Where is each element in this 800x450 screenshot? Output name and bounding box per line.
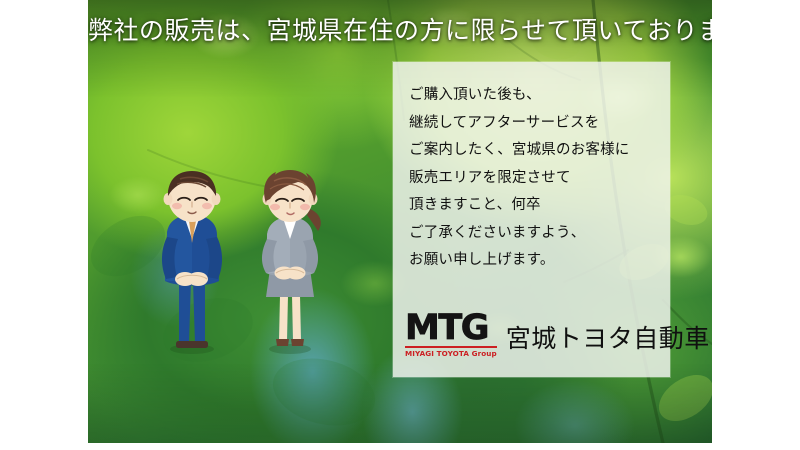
- notice-line: お願い申し上げます。: [409, 247, 660, 275]
- slide-canvas: 弊社の販売は、宮城県在住の方に限らせて頂いております。 ご購入頂いた後も、 継続…: [0, 0, 800, 450]
- notice-body: ご購入頂いた後も、 継続してアフターサービスを ご案内したく、宮城県のお客様に …: [409, 82, 660, 275]
- notice-line: 販売エリアを限定させて: [409, 165, 660, 193]
- mtg-logo-lockup: MTG MIYAGI TOYOTA Group 宮城トヨタ自動車: [405, 311, 710, 360]
- bowing-businesswoman-illustration: [244, 169, 336, 355]
- bowing-businessman-illustration: [146, 169, 238, 355]
- notice-line: ご了承くださいますよう、: [409, 220, 660, 248]
- notice-line: ご案内したく、宮城県のお客様に: [409, 137, 660, 165]
- headline-text: 弊社の販売は、宮城県在住の方に限らせて頂いております。: [88, 14, 712, 48]
- notice-line: 頂きますこと、何卒: [409, 192, 660, 220]
- foliage-background-photo: 弊社の販売は、宮城県在住の方に限らせて頂いております。 ご購入頂いた後も、 継続…: [88, 0, 712, 443]
- mtg-logo-letters: MTG: [405, 311, 488, 345]
- mtg-logo-subtitle: MIYAGI TOYOTA Group: [405, 349, 497, 359]
- mtg-logo-mark: MTG MIYAGI TOYOTA Group: [405, 311, 497, 360]
- notice-line: ご購入頂いた後も、: [409, 82, 660, 110]
- mtg-logo-rule: [405, 346, 497, 349]
- company-name-text: 宮城トヨタ自動車: [506, 324, 710, 359]
- notice-panel: ご購入頂いた後も、 継続してアフターサービスを ご案内したく、宮城県のお客様に …: [393, 62, 670, 377]
- notice-line: 継続してアフターサービスを: [409, 110, 660, 138]
